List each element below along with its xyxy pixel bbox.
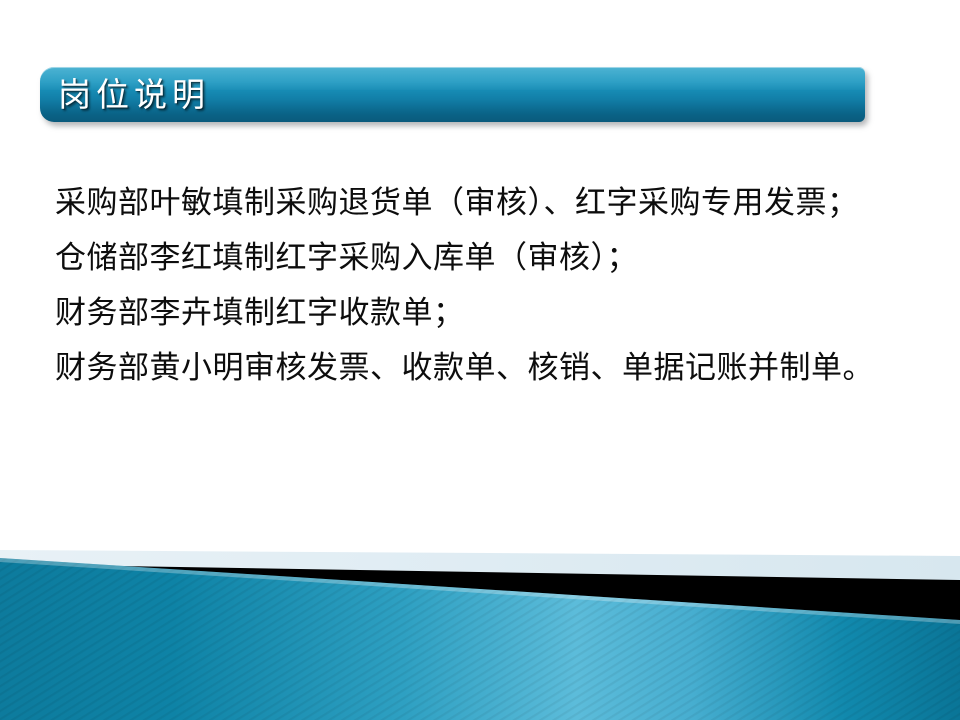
body-line-4: 财务部黄小明审核发票、收款单、核销、单据记账并制单。: [55, 341, 915, 396]
title-bar: 岗位说明: [40, 67, 865, 122]
body-line-3: 财务部李卉填制红字收款单；: [55, 286, 915, 341]
bottom-decoration: [0, 520, 960, 720]
body-line-1: 采购部叶敏填制采购退货单（审核）、红字采购专用发票；: [55, 176, 915, 231]
slide-canvas: 岗位说明 采购部叶敏填制采购退货单（审核）、红字采购专用发票； 仓储部李红填制红…: [0, 0, 960, 720]
body-text-block: 采购部叶敏填制采购退货单（审核）、红字采购专用发票； 仓储部李红填制红字采购入库…: [55, 176, 915, 396]
body-line-2: 仓储部李红填制红字采购入库单（审核）；: [55, 231, 915, 286]
slide-title: 岗位说明: [58, 77, 210, 110]
title-bar-container: 岗位说明: [40, 67, 865, 122]
bottom-decoration-svg: [0, 520, 960, 720]
